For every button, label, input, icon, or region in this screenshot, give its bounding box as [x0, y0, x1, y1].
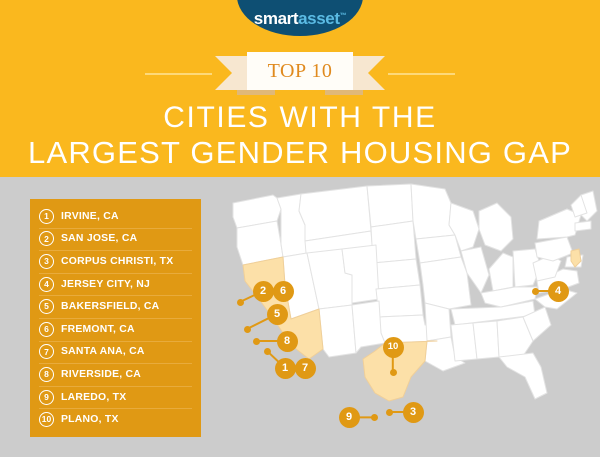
list-item-label: RIVERSIDE, CA [61, 369, 141, 380]
state-indiana [489, 253, 513, 291]
list-item[interactable]: 10 PLANO, TX [30, 408, 201, 431]
rank-badge: 5 [39, 299, 54, 314]
smartasset-logo[interactable]: smartasset™ [237, 0, 363, 36]
list-item-label: CORPUS CHRISTI, TX [61, 256, 173, 267]
list-item[interactable]: 6 FREMONT, CA [30, 318, 201, 341]
list-item-label: IRVINE, CA [61, 211, 119, 222]
map-marker-5[interactable]: 5 [267, 304, 288, 325]
rank-badge: 8 [39, 367, 54, 382]
state-south-dakota [371, 221, 416, 263]
list-item-label: SAN JOSE, CA [61, 233, 137, 244]
state-minnesota [411, 184, 455, 239]
ribbon-rule-left [145, 73, 212, 75]
list-item-label: PLANO, TX [61, 414, 119, 425]
list-item[interactable]: 9 LAREDO, TX [30, 386, 201, 409]
map-marker-4[interactable]: 4 [548, 281, 569, 302]
state-michigan [479, 203, 513, 251]
rank-badge: 7 [39, 344, 54, 359]
top10-ribbon: TOP 10 [0, 52, 600, 98]
trademark-icon: ™ [340, 12, 347, 19]
ribbon-fold-right [325, 90, 363, 95]
map-marker-9[interactable]: 9 [339, 407, 360, 428]
state-florida [499, 353, 547, 399]
header-banner: smartasset™ TOP 10 CITIES WITH THE LARGE… [0, 0, 600, 177]
state-north-dakota [367, 184, 413, 227]
list-item[interactable]: 3 CORPUS CHRISTI, TX [30, 250, 201, 273]
map-marker-3[interactable]: 3 [403, 402, 424, 423]
infographic-root: smartasset™ TOP 10 CITIES WITH THE LARGE… [0, 0, 600, 457]
state-mississippi [451, 323, 477, 361]
map-marker-8[interactable]: 8 [277, 331, 298, 352]
list-item-label: SANTA ANA, CA [61, 346, 145, 357]
ribbon-panel: TOP 10 [247, 52, 353, 90]
title-line-2: LARGEST GENDER HOUSING GAP [0, 135, 600, 170]
state-kansas [376, 285, 423, 317]
ribbon-rule-right [388, 73, 455, 75]
map-marker-7[interactable]: 7 [295, 358, 316, 379]
state-arizona [319, 305, 356, 357]
ribbon-fold-left [237, 90, 275, 95]
list-item[interactable]: 1 IRVINE, CA [30, 205, 201, 228]
rank-badge: 4 [39, 277, 54, 292]
rank-badge: 9 [39, 390, 54, 405]
state-missouri [420, 257, 471, 309]
map-marker-2[interactable]: 2 [253, 281, 274, 302]
state-alabama [473, 321, 499, 359]
logo-asset-text: asset [298, 9, 339, 28]
rank-badge: 3 [39, 254, 54, 269]
rank-badge: 1 [39, 209, 54, 224]
state-arkansas [425, 303, 451, 341]
list-item-label: BAKERSFIELD, CA [61, 301, 159, 312]
ranking-list: 1 IRVINE, CA 2 SAN JOSE, CA 3 CORPUS CHR… [30, 199, 201, 437]
list-item[interactable]: 2 SAN JOSE, CA [30, 228, 201, 251]
list-item-label: LAREDO, TX [61, 392, 126, 403]
map-marker-6[interactable]: 6 [273, 281, 294, 302]
list-item[interactable]: 8 RIVERSIDE, CA [30, 363, 201, 386]
state-massachusetts [575, 221, 591, 231]
state-nebraska [373, 259, 420, 289]
rank-badge: 2 [39, 231, 54, 246]
content-area: 1 IRVINE, CA 2 SAN JOSE, CA 3 CORPUS CHR… [0, 177, 600, 457]
list-item-label: JERSEY CITY, NJ [61, 279, 150, 290]
list-item[interactable]: 4 JERSEY CITY, NJ [30, 273, 201, 296]
map-marker-1[interactable]: 1 [275, 358, 296, 379]
list-item-label: FREMONT, CA [61, 324, 135, 335]
map-marker-10[interactable]: 10 [383, 337, 404, 358]
rank-badge: 6 [39, 322, 54, 337]
logo-wordmark: smartasset™ [254, 10, 346, 27]
list-item[interactable]: 5 BAKERSFIELD, CA [30, 295, 201, 318]
page-title: CITIES WITH THE LARGEST GENDER HOUSING G… [0, 100, 600, 170]
list-item[interactable]: 7 SANTA ANA, CA [30, 341, 201, 364]
rank-badge: 10 [39, 412, 54, 427]
ribbon-label: TOP 10 [268, 60, 333, 83]
logo-smart-text: smart [254, 9, 298, 28]
title-line-1: CITIES WITH THE [0, 100, 600, 135]
